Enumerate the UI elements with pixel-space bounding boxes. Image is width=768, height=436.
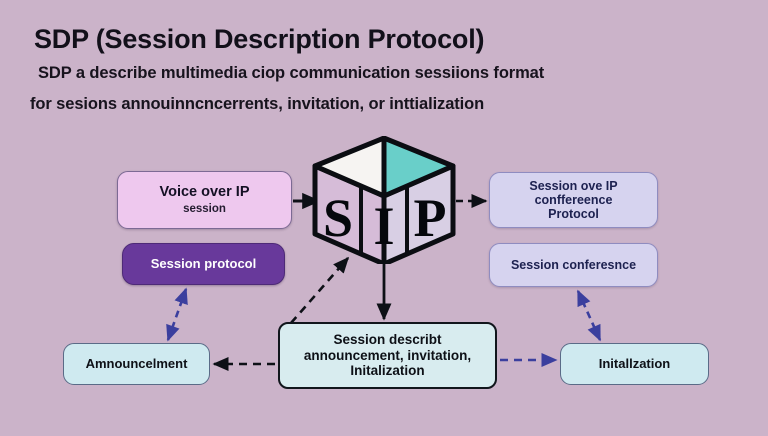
- node-voice-over-ip[interactable]: Voice over IP session: [117, 171, 292, 229]
- edge-session-describe-to-cube: [291, 258, 348, 323]
- node-voice-over-ip-line-2: session: [183, 203, 226, 216]
- node-session-describe-line-3: Initalization: [350, 363, 424, 378]
- page-subtitle-line-1: SDP a describe multimedia ciop communica…: [38, 64, 544, 83]
- cube-letter-s: S: [323, 188, 353, 248]
- cube-letter-i: I: [373, 196, 394, 256]
- sip-cube: S I P: [311, 136, 457, 264]
- node-session-describe-line-2: announcement, invitation,: [304, 348, 471, 363]
- node-initialization-label: Initallzation: [599, 357, 671, 372]
- node-sip-conference-line-3: Protocol: [548, 207, 599, 221]
- node-session-describe[interactable]: Session describt announcement, invitatio…: [278, 322, 497, 389]
- node-session-conference-label: Session conferesnce: [511, 258, 636, 272]
- diagram-canvas: SDP (Session Description Protocol) SDP a…: [0, 0, 768, 436]
- page-subtitle-line-2: for sesions annouinncncerrents, invitati…: [30, 95, 484, 114]
- edge-initialization-to-session-conference: [578, 291, 600, 340]
- node-session-describe-line-1: Session describt: [333, 332, 441, 347]
- node-initialization[interactable]: Initallzation: [560, 343, 709, 385]
- node-session-protocol-label: Session protocol: [151, 257, 256, 272]
- node-sip-conference-line-2: conffereence: [535, 193, 613, 207]
- node-voice-over-ip-line-1: Voice over IP: [160, 184, 250, 201]
- node-announcement[interactable]: Amnouncelment: [63, 343, 210, 385]
- cube-letter-p: P: [414, 188, 447, 248]
- node-announcement-label: Amnouncelment: [86, 357, 188, 372]
- node-sip-conference-line-1: Session ove IP: [529, 179, 617, 193]
- page-title: SDP (Session Description Protocol): [34, 24, 484, 55]
- node-session-protocol[interactable]: Session protocol: [122, 243, 285, 285]
- edge-announcement-to-session-protocol: [168, 289, 186, 340]
- node-session-conference[interactable]: Session conferesnce: [489, 243, 658, 287]
- node-session-over-ip-conference-protocol[interactable]: Session ove IP conffereence Protocol: [489, 172, 658, 228]
